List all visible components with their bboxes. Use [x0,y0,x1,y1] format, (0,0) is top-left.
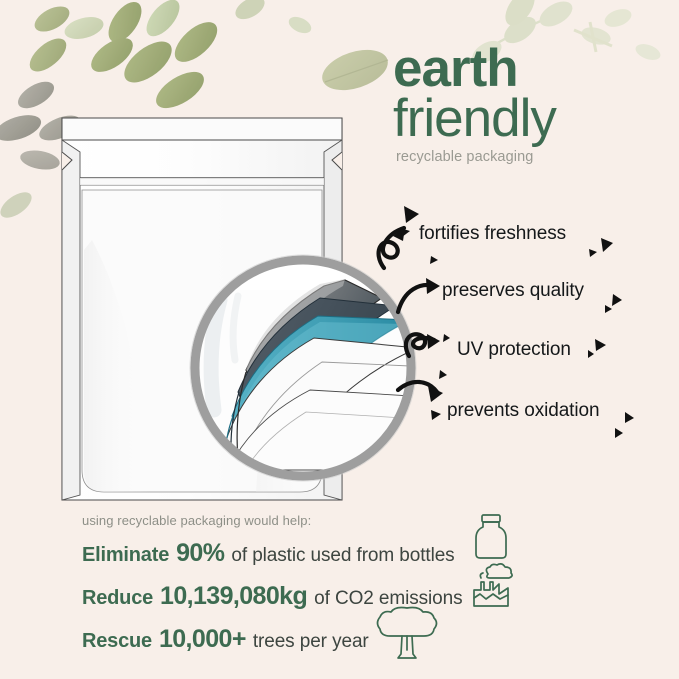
stat-verb: Reduce [82,587,153,610]
stat-verb: Rescue [82,630,152,653]
stat-row-reduce: Reduce 10,139,080kg of CO2 emissions [82,582,602,611]
headline-line-2: friendly [393,92,673,145]
headline-subtitle: recyclable packaging [396,149,673,165]
feature-label-fortifies-freshness: fortifies freshness [419,223,566,245]
tree-icon [374,604,440,664]
stat-row-rescue: Rescue 10,000+ trees per year [82,625,602,654]
poster-canvas: earth friendly recyclable packaging fort… [0,0,679,679]
stat-row-eliminate: Eliminate 90% of plastic used from bottl… [82,539,602,568]
stat-verb: Eliminate [82,544,169,567]
bottle-icon [470,512,512,562]
stat-tail: trees per year [253,631,369,653]
stat-number: 10,139,080kg [160,582,307,611]
factory-icon [468,562,516,608]
feature-label-preserves-quality: preserves quality [442,280,584,302]
headline-block: earth friendly recyclable packaging [393,44,673,165]
stat-tail: of plastic used from bottles [231,545,454,567]
feature-label-prevents-oxidation: prevents oxidation [447,400,599,422]
stats-block: using recyclable packaging would help: E… [82,513,602,668]
stat-number: 90% [176,539,224,568]
stats-intro: using recyclable packaging would help: [82,513,602,528]
feature-label-uv-protection: UV protection [457,339,571,361]
headline-line-1: earth [393,44,673,94]
stat-number: 10,000+ [159,625,246,654]
